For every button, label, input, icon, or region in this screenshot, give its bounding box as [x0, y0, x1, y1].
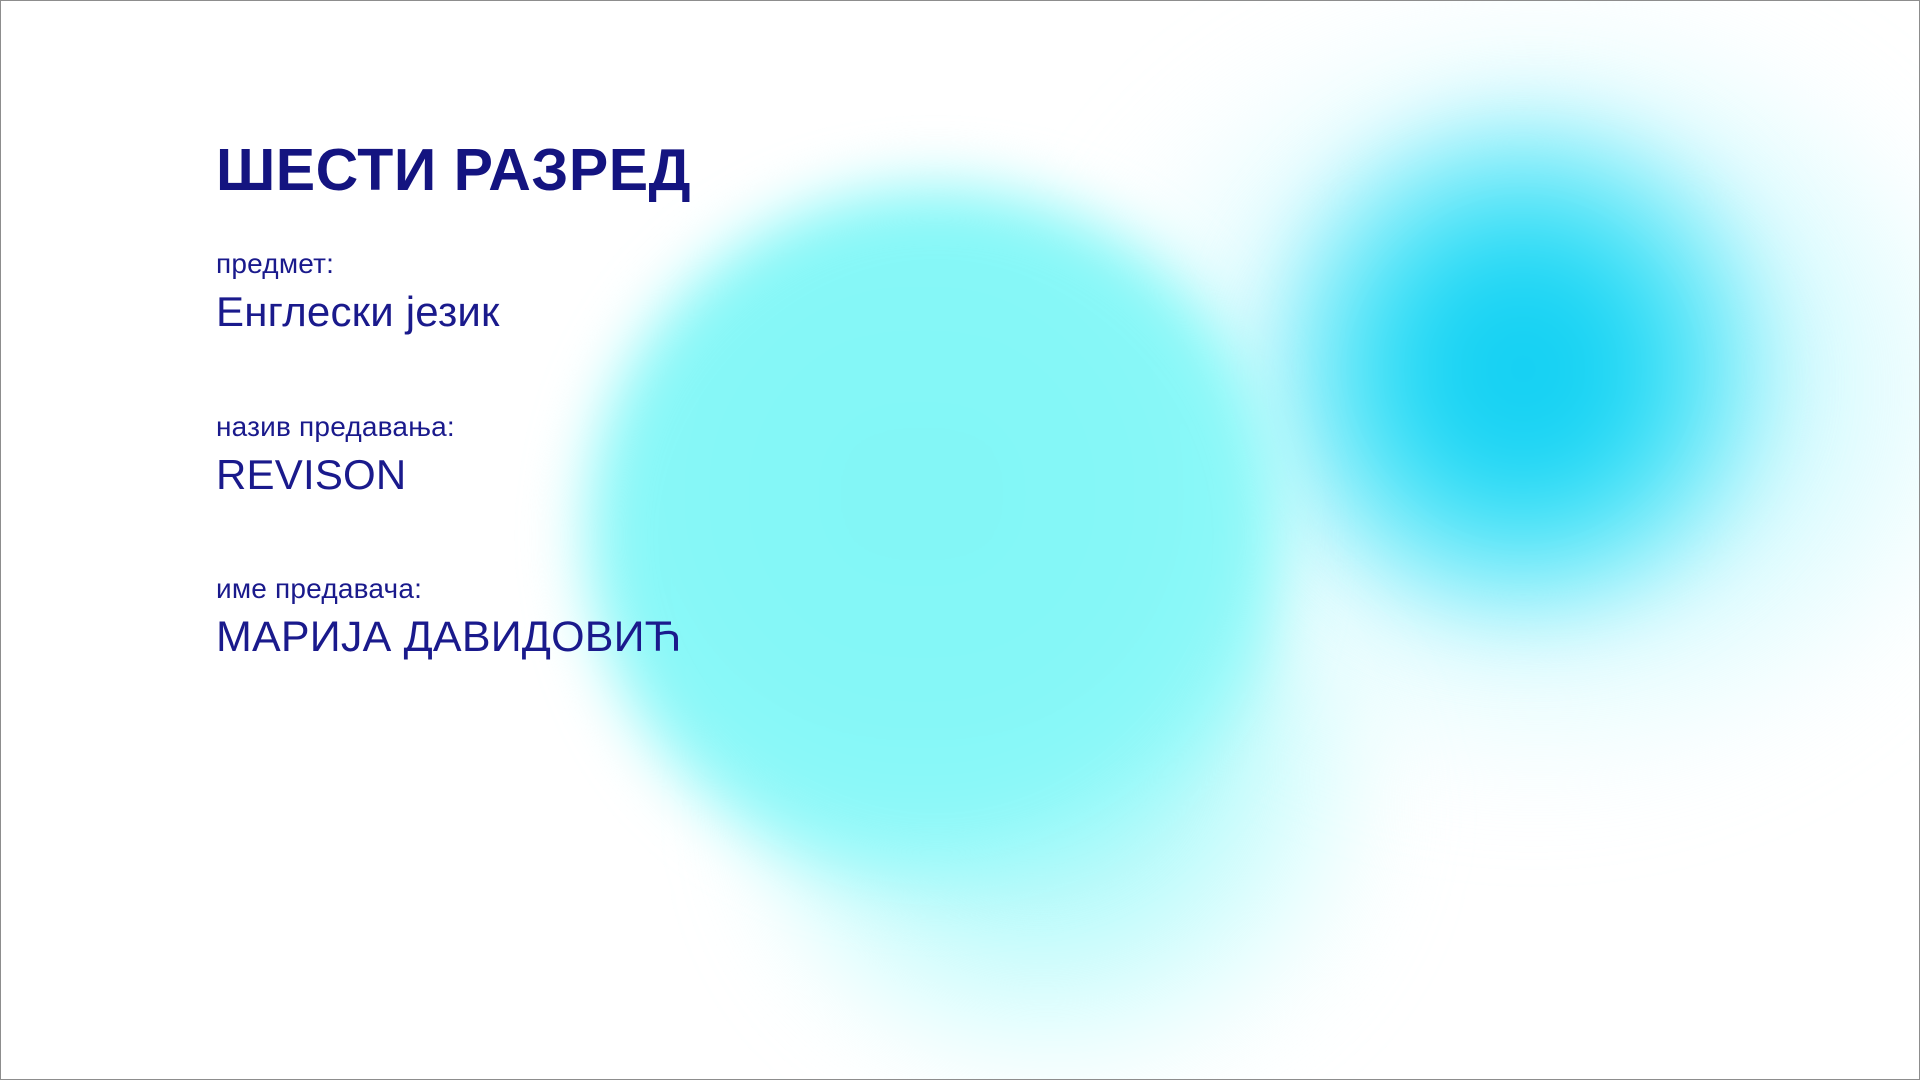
lesson-title-value: REVISON: [216, 450, 1116, 500]
subject-label: предмет:: [216, 246, 1116, 281]
small-cyan-blob-halo: [1081, 21, 1919, 781]
small-cyan-blob: [1263, 109, 1783, 629]
subject-value: Енглески језик: [216, 287, 1116, 337]
field-teacher-name: име предавача: МАРИЈА ДАВИДОВИЋ: [216, 571, 1116, 663]
lesson-title-label: назив предавања:: [216, 409, 1116, 444]
teacher-name-value: МАРИЈА ДАВИДОВИЋ: [216, 612, 1116, 663]
field-subject: предмет: Енглески језик: [216, 246, 1116, 337]
slide-title: ШЕСТИ РАЗРЕД: [216, 141, 1116, 200]
field-lesson-title: назив предавања: REVISON: [216, 409, 1116, 500]
slide-content: ШЕСТИ РАЗРЕД предмет: Енглески језик наз…: [216, 141, 1116, 663]
teacher-name-label: име предавача:: [216, 571, 1116, 606]
slide-canvas: ШЕСТИ РАЗРЕД предмет: Енглески језик наз…: [0, 0, 1920, 1080]
